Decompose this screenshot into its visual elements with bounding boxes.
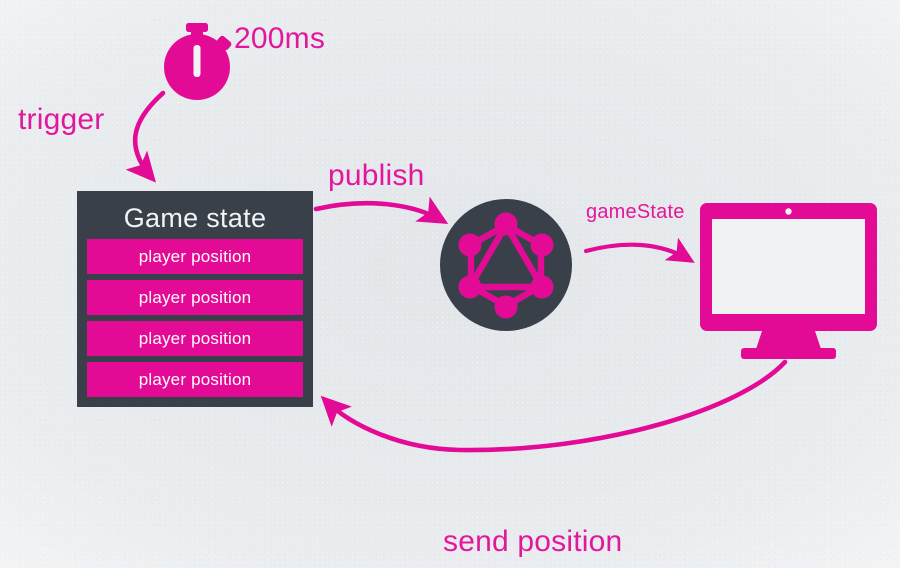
send-position-arrow-path — [325, 362, 785, 450]
publish-label: publish — [328, 160, 424, 192]
diagram-canvas: Game state player position player positi… — [0, 0, 900, 568]
timer-interval-label: 200ms — [234, 23, 325, 55]
gamestate-label: gameState — [586, 202, 685, 224]
gamestate-arrow-path — [586, 245, 690, 260]
trigger-label: trigger — [18, 104, 104, 136]
publish-arrow-path — [316, 203, 443, 221]
game-state-title: Game state — [87, 197, 303, 239]
desktop-monitor-icon — [700, 203, 877, 359]
player-position-row: player position — [87, 239, 303, 274]
send-position-label: send position every 100ms — [443, 461, 622, 568]
player-position-row: player position — [87, 321, 303, 356]
trigger-arrow-path — [135, 93, 163, 178]
graphql-logo-icon — [440, 199, 572, 331]
player-position-row: player position — [87, 280, 303, 315]
send-position-line-1: send position — [443, 526, 622, 558]
player-position-row: player position — [87, 362, 303, 397]
stopwatch-icon — [164, 23, 233, 100]
game-state-box: Game state player position player positi… — [77, 191, 313, 407]
